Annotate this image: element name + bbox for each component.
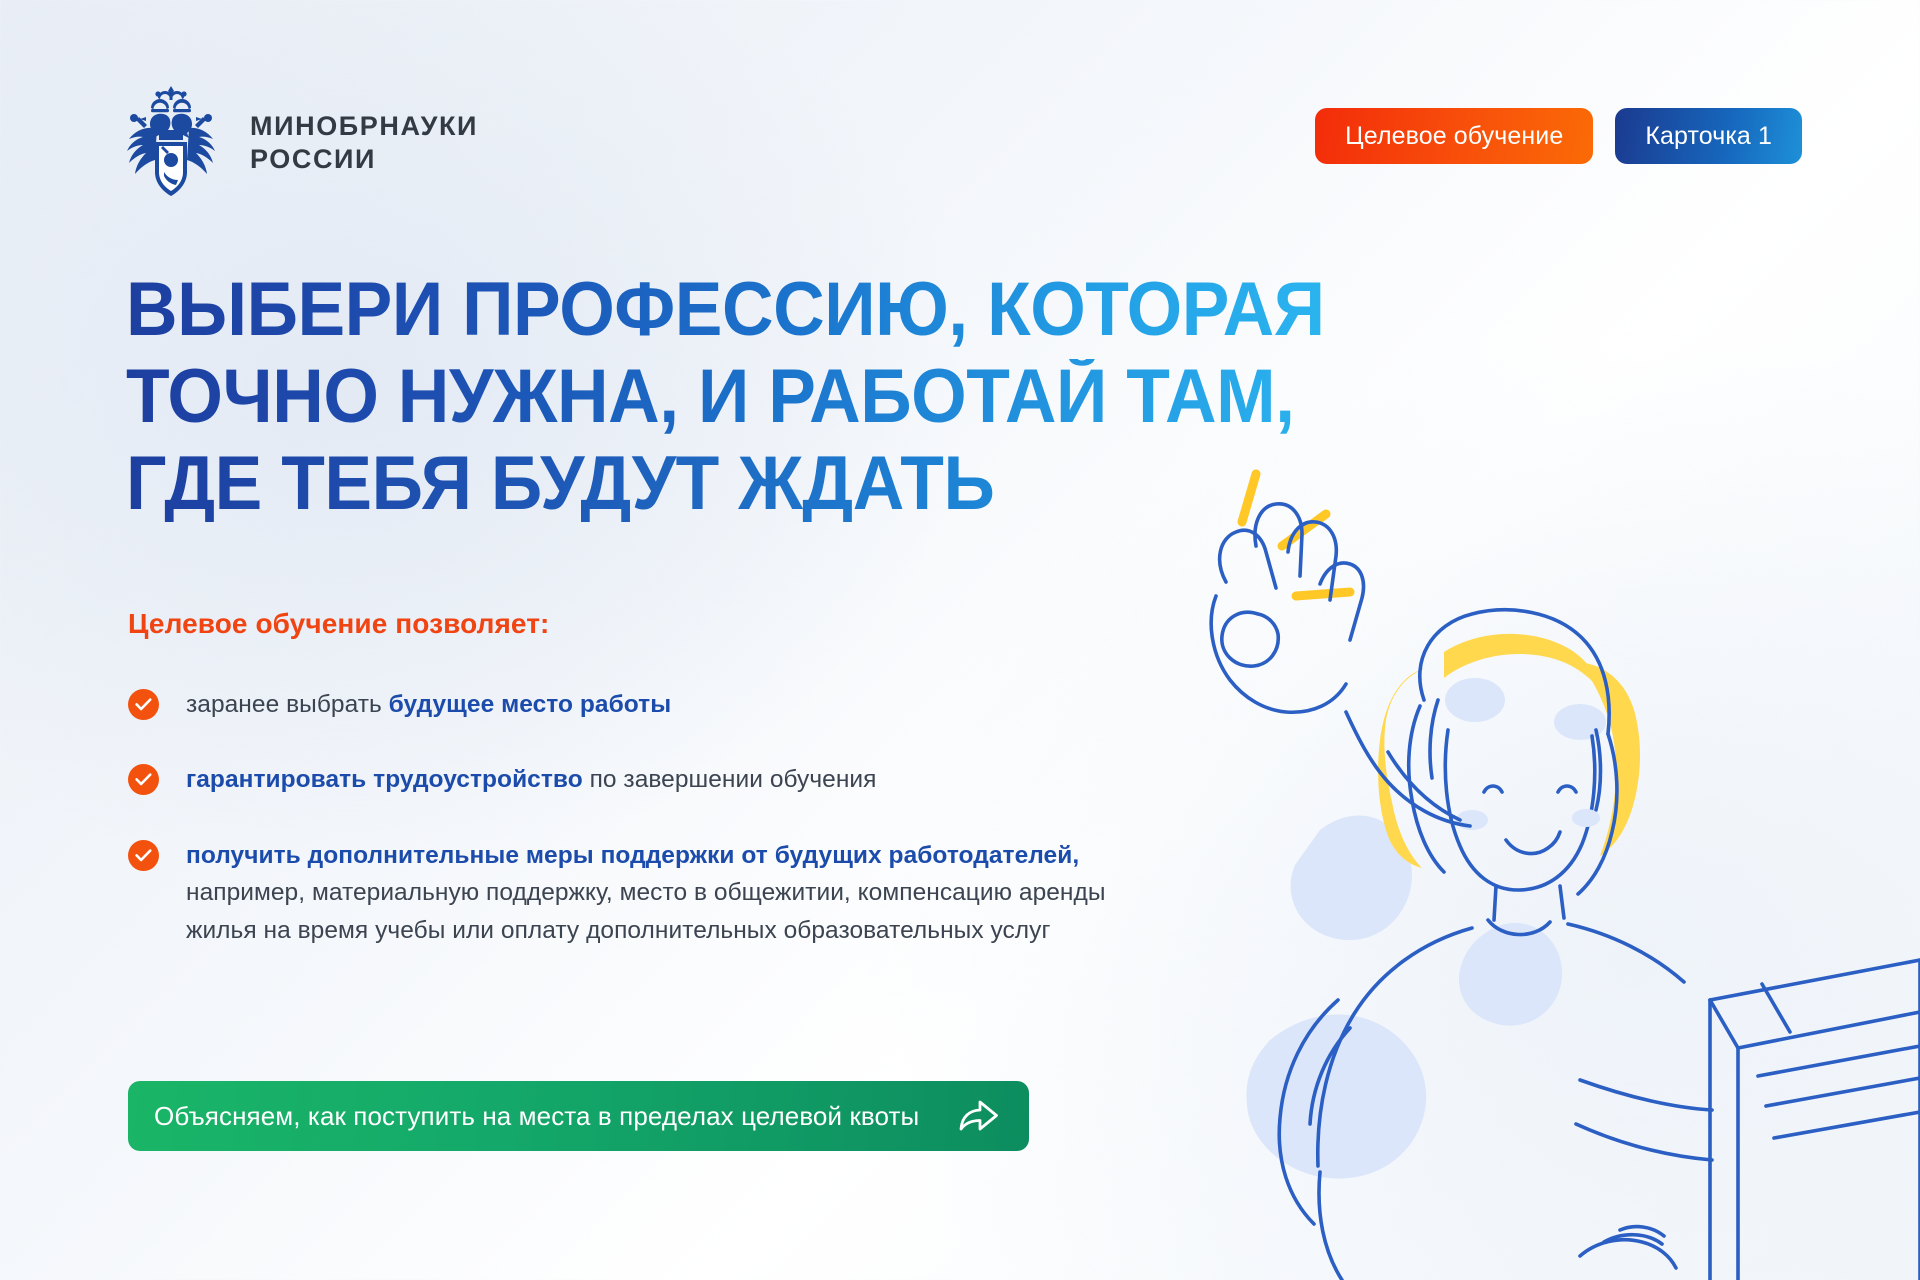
benefits-subhead: Целевое обучение позволяет: bbox=[128, 608, 1138, 640]
badge-card-number[interactable]: Карточка 1 bbox=[1615, 108, 1802, 164]
ministry-name: МИНОБРНАУКИ РОССИИ bbox=[250, 110, 478, 176]
list-item-text: получить дополнительные меры поддержки о… bbox=[186, 837, 1138, 949]
cta-button[interactable]: Объясняем, как поступить на места в пред… bbox=[128, 1081, 1029, 1151]
poster-canvas: МИНОБРНАУКИ РОССИИ Целевое обучение Карт… bbox=[0, 0, 1920, 1280]
ministry-logo: МИНОБРНАУКИ РОССИИ bbox=[118, 84, 478, 202]
headline-line-3: ГДЕ ТЕБЯ БУДУТ ЖДАТЬ bbox=[126, 446, 1348, 521]
list-item-text: заранее выбрать будущее место работы bbox=[186, 686, 671, 723]
share-arrow-icon[interactable] bbox=[959, 1099, 999, 1133]
check-circle-icon bbox=[128, 764, 159, 795]
check-circle-icon bbox=[128, 689, 159, 720]
header-badges: Целевое обучение Карточка 1 bbox=[1315, 108, 1802, 164]
list-item-text: гарантировать трудоустройство по заверше… bbox=[186, 761, 876, 798]
cta-label: Объясняем, как поступить на места в пред… bbox=[154, 1101, 919, 1132]
check-circle-icon bbox=[128, 840, 159, 871]
headline-line-1: ВЫБЕРИ ПРОФЕССИЮ, КОТОРАЯ bbox=[126, 272, 1348, 347]
page-title: ВЫБЕРИ ПРОФЕССИЮ, КОТОРАЯ ТОЧНО НУЖНА, И… bbox=[126, 272, 1426, 534]
headline-line-2: ТОЧНО НУЖНА, И РАБОТАЙ ТАМ, bbox=[126, 359, 1348, 434]
benefits-section: Целевое обучение позволяет: заранее выбр… bbox=[128, 608, 1138, 949]
russian-coat-of-arms-icon bbox=[118, 84, 224, 202]
list-item: гарантировать трудоустройство по заверше… bbox=[128, 761, 1138, 798]
header: МИНОБРНАУКИ РОССИИ Целевое обучение Карт… bbox=[118, 88, 1802, 198]
list-item: заранее выбрать будущее место работы bbox=[128, 686, 1138, 723]
badge-targeted-training[interactable]: Целевое обучение bbox=[1315, 108, 1593, 164]
benefits-list: заранее выбрать будущее место работы гар… bbox=[128, 686, 1138, 949]
list-item: получить дополнительные меры поддержки о… bbox=[128, 837, 1138, 949]
